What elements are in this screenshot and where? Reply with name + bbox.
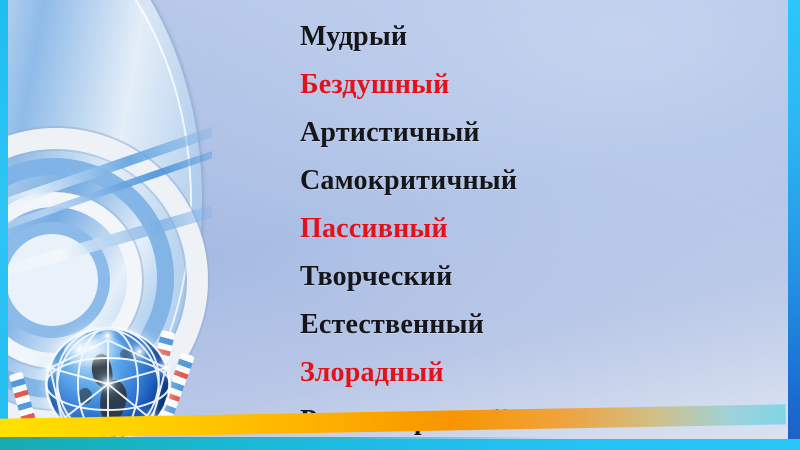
decorative-artwork (0, 0, 212, 442)
sparkle-point (106, 334, 109, 337)
word-item: Злорадный (300, 349, 770, 397)
word-item: Мудрый (300, 13, 770, 61)
word-item: Бездушный (300, 61, 770, 109)
word-list: Мудрый Бездушный Артистичный Самокритичн… (300, 13, 770, 445)
word-item: Творческий (300, 253, 770, 301)
word-item: Естественный (300, 301, 770, 349)
word-item: Артистичный (300, 109, 770, 157)
left-accent-bar (0, 0, 8, 442)
bottom-teal-band (0, 439, 800, 450)
sparkle-point (138, 350, 141, 353)
sparkle-point (78, 348, 81, 351)
presentation-slide: Мудрый Бездушный Артистичный Самокритичн… (0, 0, 800, 450)
word-item: Самокритичный (300, 157, 770, 205)
sparkle-point (164, 366, 167, 369)
word-item: Пассивный (300, 205, 770, 253)
sparkle-point (48, 366, 51, 369)
sparkle-point (106, 382, 109, 385)
right-accent-bar (788, 0, 800, 450)
